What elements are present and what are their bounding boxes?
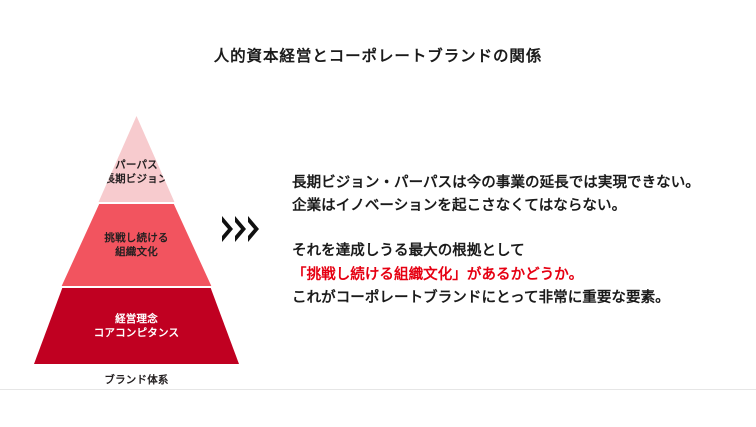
pyramid-tier-purpose-line2: 長期ビジョン: [104, 172, 168, 186]
paragraph-two-line2-highlight: 「挑戦し続ける組織文化」があるかどうか。: [292, 264, 732, 287]
pyramid-caption: ブランド体系: [34, 372, 239, 387]
chevron-right-icon: [235, 216, 246, 242]
chevron-right-icon: [222, 216, 233, 242]
pyramid-tier-purpose: パーパス 長期ビジョン: [34, 116, 239, 202]
slide-canvas: 人的資本経営とコーポレートブランドの関係 パーパス 長期ビジョン 挑戦し続ける …: [0, 0, 756, 427]
pyramid-tier-philosophy-line2: コアコンピタンス: [94, 326, 179, 340]
pyramid-tier-culture: 挑戦し続ける 組織文化: [34, 204, 239, 286]
paragraph-two-line1: それを達成しうる最大の根拠として: [292, 240, 732, 263]
paragraph-two-line3: これがコーポレートブランドにとって非常に重要な要素。: [292, 287, 732, 310]
footer-divider: [0, 389, 756, 390]
chevron-right-icon: [248, 216, 259, 242]
page-title: 人的資本経営とコーポレートブランドの関係: [0, 44, 756, 66]
paragraph-one-line2: 企業はイノベーションを起こさなくてはならない。: [292, 195, 732, 218]
paragraph-two: それを達成しうる最大の根拠として 「挑戦し続ける組織文化」があるかどうか。 これ…: [292, 240, 732, 310]
pyramid-tier-philosophy-line1: 経営理念: [115, 312, 158, 326]
body-text-block: 長期ビジョン・パーパスは今の事業の延長では実現できない。 企業はイノベーションを…: [292, 172, 732, 310]
pyramid-tier-philosophy: 経営理念 コアコンピタンス: [34, 288, 239, 364]
triple-chevron-right-icon: [222, 216, 259, 242]
paragraph-one-line1: 長期ビジョン・パーパスは今の事業の延長では実現できない。: [292, 172, 732, 195]
pyramid-shape: パーパス 長期ビジョン 挑戦し続ける 組織文化 経営理念 コアコンピタンス: [34, 116, 239, 364]
pyramid-tier-culture-line1: 挑戦し続ける: [104, 231, 168, 245]
pyramid-diagram: パーパス 長期ビジョン 挑戦し続ける 組織文化 経営理念 コアコンピタンス ブラ…: [34, 116, 239, 386]
pyramid-tier-purpose-line1: パーパス: [115, 158, 158, 172]
paragraph-one: 長期ビジョン・パーパスは今の事業の延長では実現できない。 企業はイノベーションを…: [292, 172, 732, 218]
pyramid-tier-culture-line2: 組織文化: [115, 245, 158, 259]
footer: Copyright AGEHA,Inc. All Rights Reserved…: [0, 392, 756, 427]
